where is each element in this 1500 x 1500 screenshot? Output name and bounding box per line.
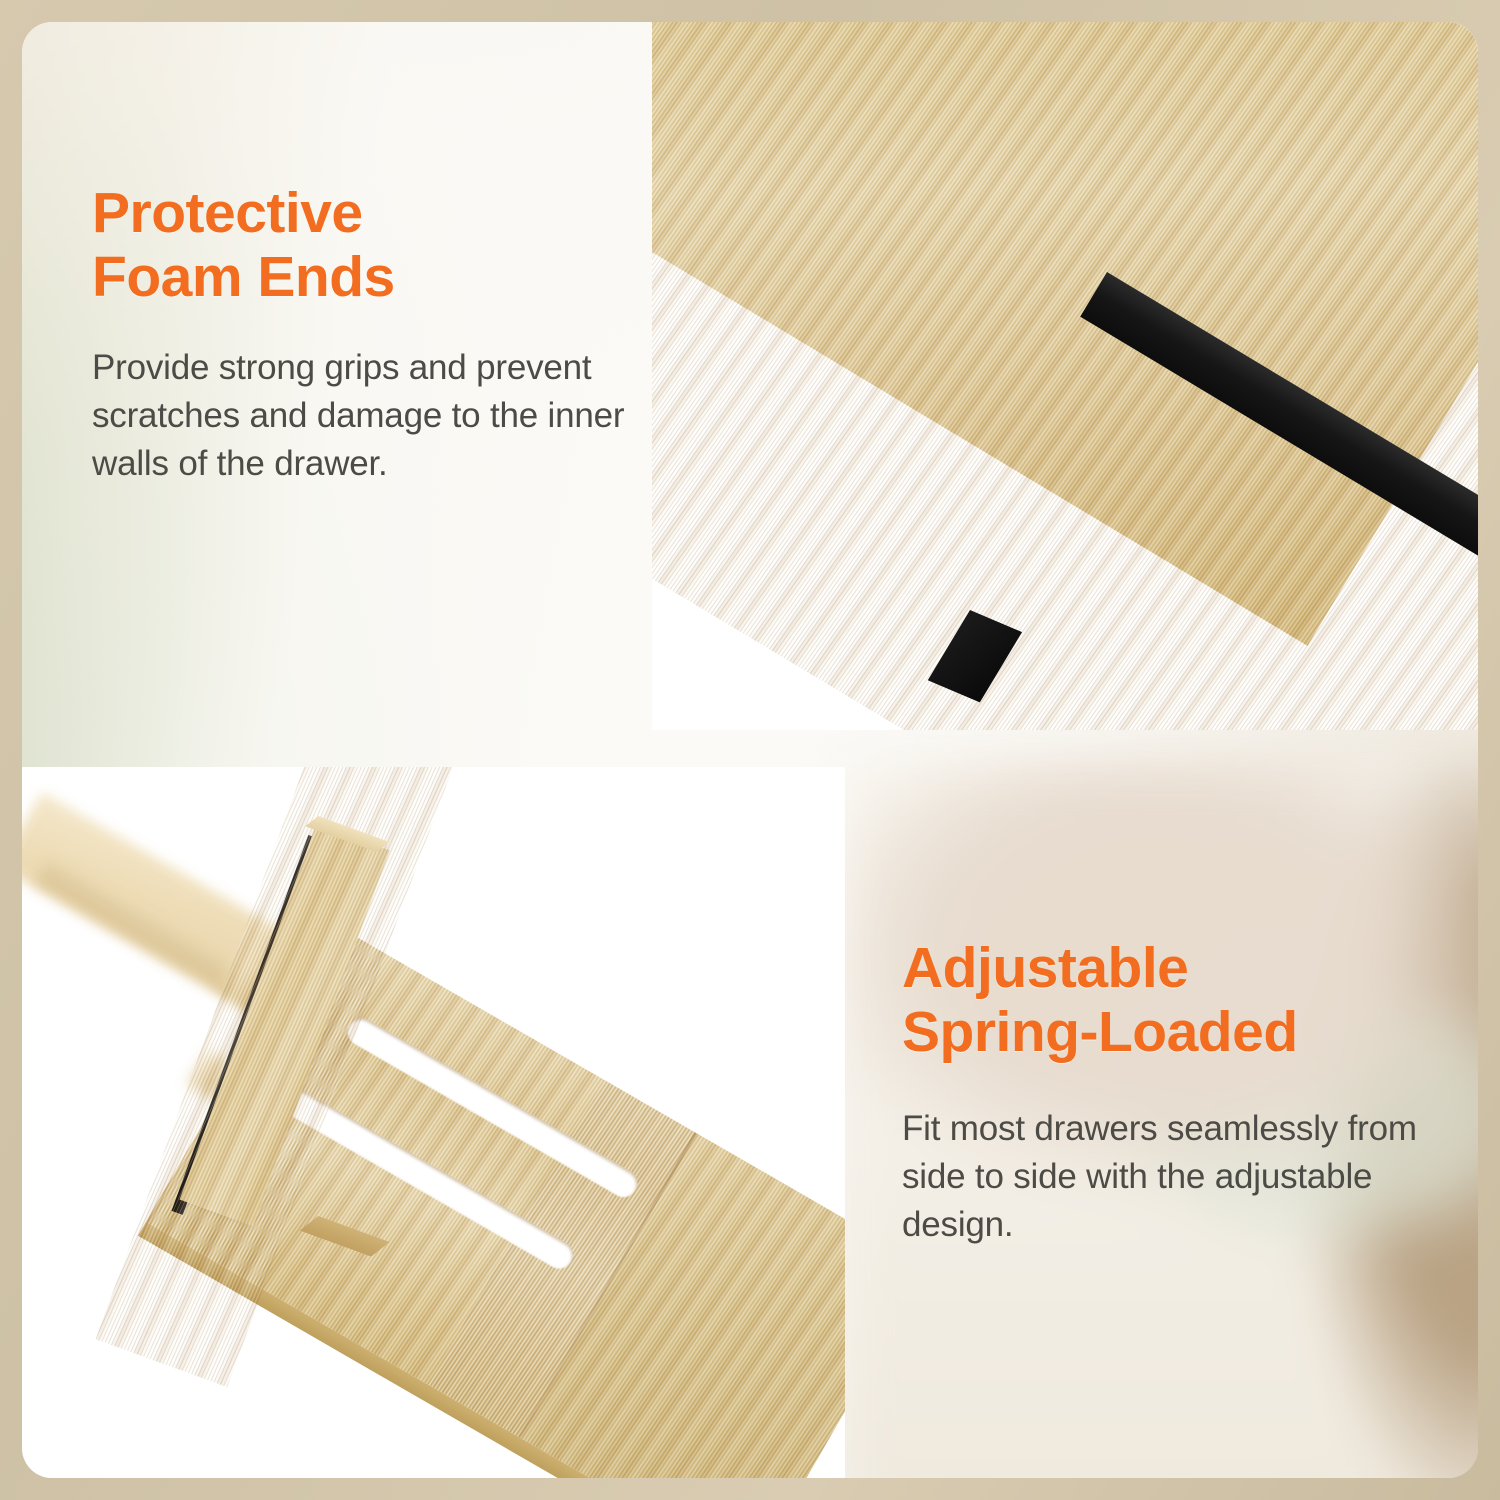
bamboo-grain-texture	[521, 1134, 845, 1479]
divider-assembly-photo	[22, 767, 845, 1478]
photo-panel-spring-loaded	[22, 767, 845, 1478]
feature-headline: Adjustable Spring-Loaded	[902, 937, 1462, 1065]
feature-headline-line-2: Spring-Loaded	[902, 1001, 1462, 1065]
feature-copy-foam-ends: Protective Foam Ends Provide strong grip…	[92, 182, 632, 489]
bamboo-plate-solid-end	[521, 1134, 845, 1479]
feature-headline-line-2: Foam Ends	[92, 246, 632, 310]
bamboo-slab-photo	[652, 22, 1478, 730]
content-stage: Protective Foam Ends Provide strong grip…	[22, 22, 1478, 1478]
image-outer-frame: Protective Foam Ends Provide strong grip…	[0, 0, 1500, 1500]
feature-headline-line-1: Adjustable	[902, 936, 1188, 1000]
bamboo-grain-texture	[652, 22, 1478, 646]
feature-body-text: Provide strong grips and prevent scratch…	[92, 344, 632, 489]
photo-panel-foam-ends	[652, 22, 1478, 730]
feature-headline-line-1: Protective	[92, 181, 363, 245]
feature-body-text: Fit most drawers seamlessly from side to…	[902, 1105, 1462, 1250]
bamboo-slab-top-face	[652, 22, 1478, 646]
feature-headline: Protective Foam Ends	[92, 182, 632, 310]
feature-copy-spring-loaded: Adjustable Spring-Loaded Fit most drawer…	[902, 937, 1462, 1250]
